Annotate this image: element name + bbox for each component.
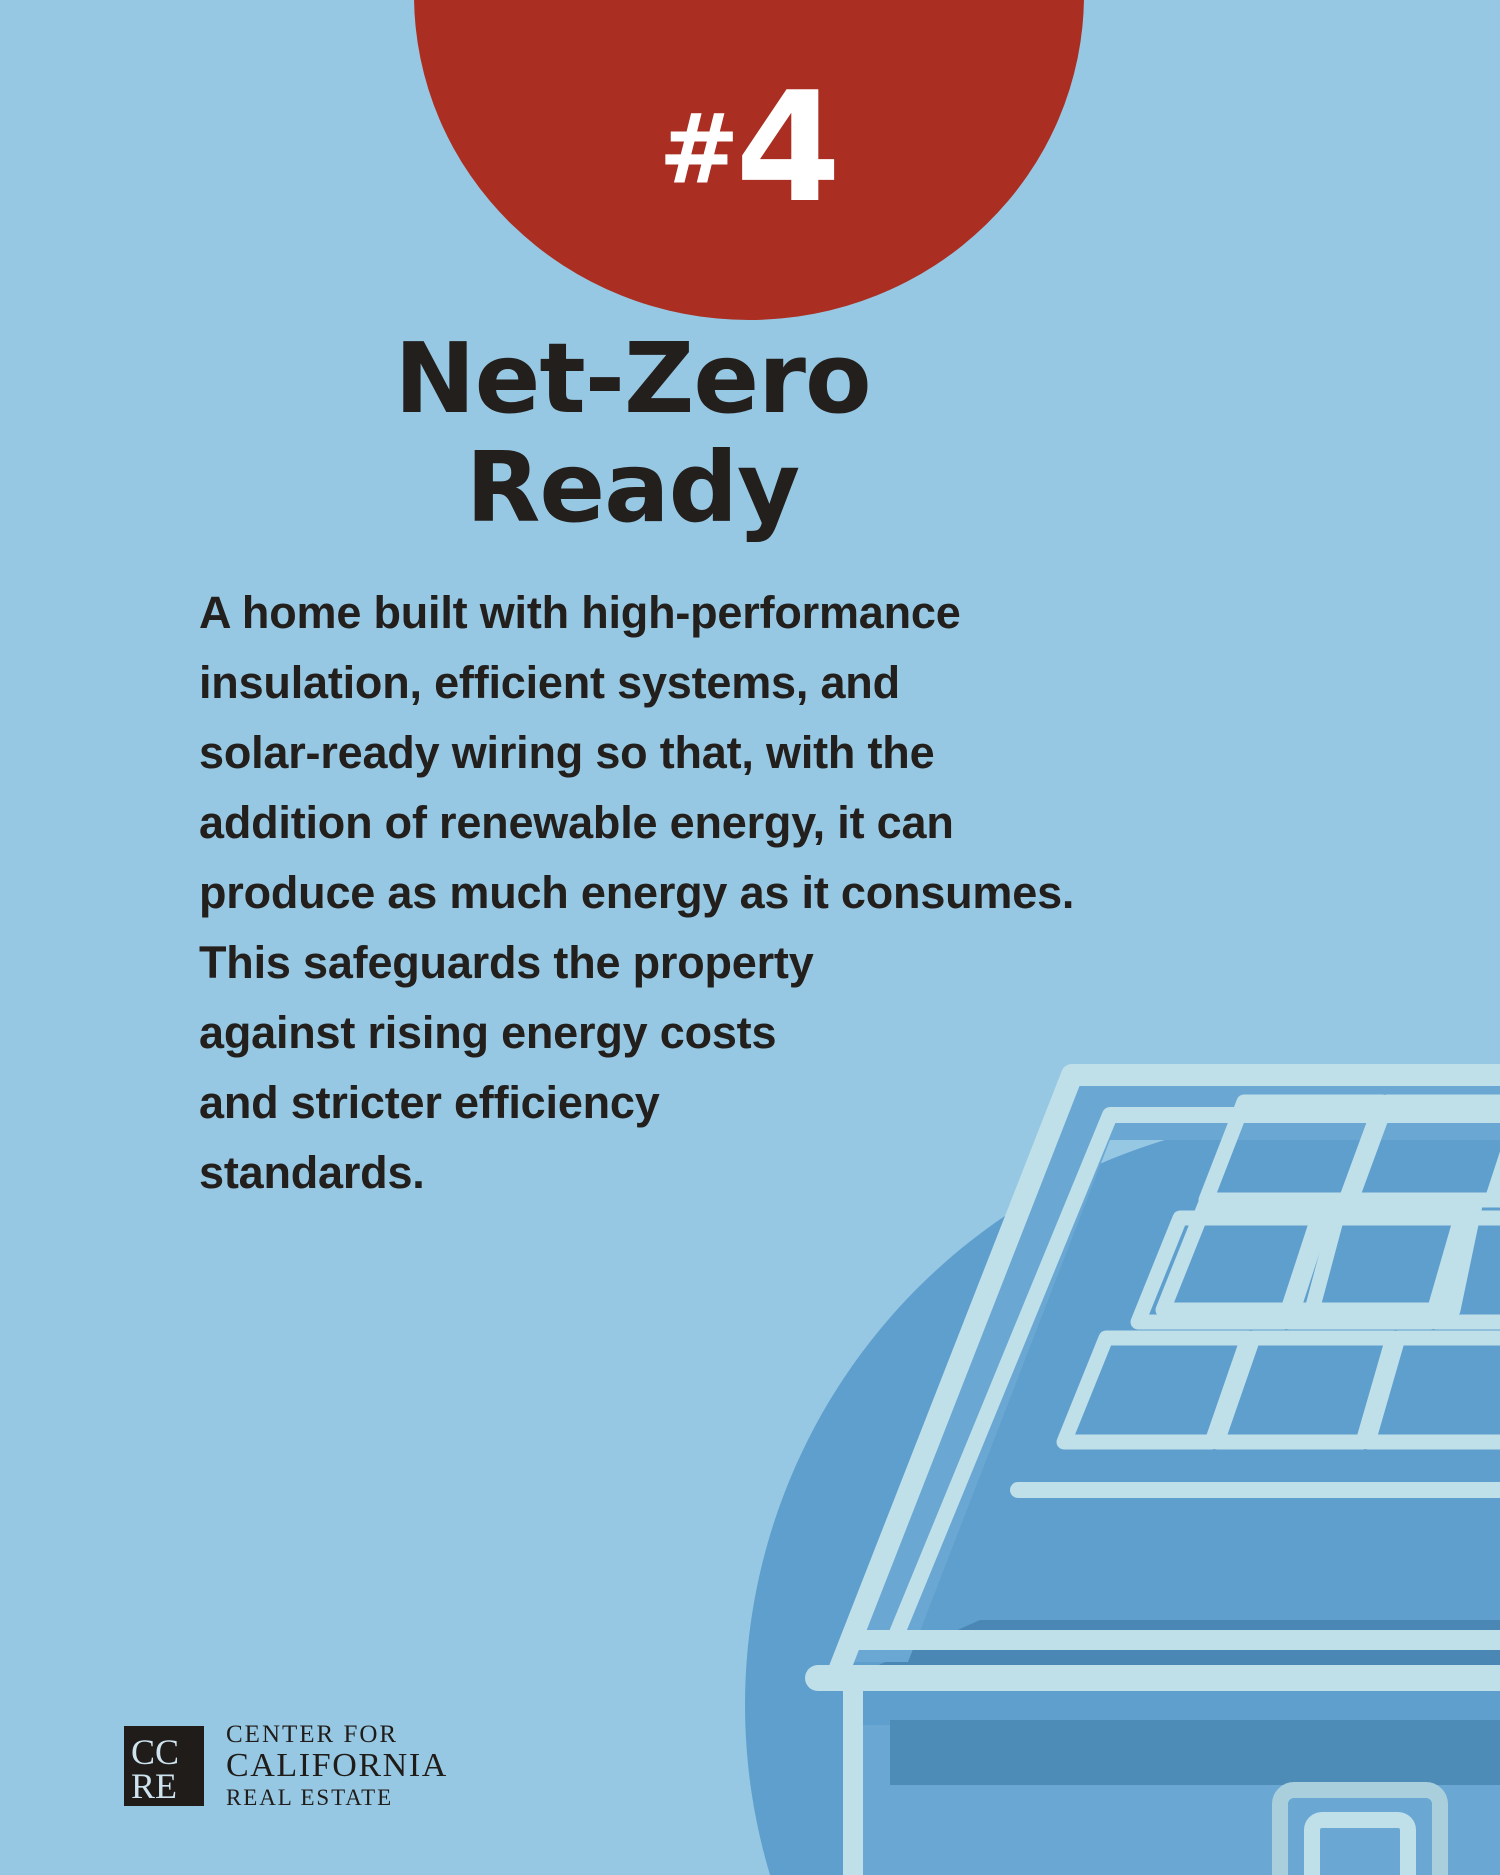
logo-line-real-estate: REAL ESTATE — [226, 1786, 448, 1809]
ccre-logo-wordmark: CENTER FOR CALIFORNIA REAL ESTATE — [226, 1722, 448, 1809]
body-line-1: A home built with high-performance — [199, 578, 1099, 648]
body-line-5: produce as much energy as it consumes. — [199, 858, 1099, 928]
page-title-line-1: Net-Zero — [0, 325, 1265, 434]
number-badge: #4 — [414, 0, 1084, 320]
ccre-logo-mark: CC RE — [124, 1726, 204, 1806]
badge-number-label: #4 — [659, 72, 839, 224]
svg-text:RE: RE — [131, 1766, 177, 1806]
badge-number-value: 4 — [735, 59, 839, 236]
body-line-9: standards. — [199, 1138, 1099, 1208]
body-line-3: solar-ready wiring so that, with the — [199, 718, 1099, 788]
body-line-6: This safeguards the property — [199, 928, 1099, 998]
poster-canvas: #4 Net-Zero Ready A home built with high… — [0, 0, 1500, 1875]
logo-line-california: CALIFORNIA — [226, 1749, 448, 1783]
logo-line-center-for: CENTER FOR — [226, 1722, 448, 1747]
page-title: Net-Zero Ready — [0, 325, 1265, 542]
body-line-8: and stricter efficiency — [199, 1068, 1099, 1138]
body-paragraph: A home built with high-performance insul… — [199, 578, 1099, 1208]
page-title-line-2: Ready — [0, 434, 1265, 543]
body-line-2: insulation, efficient systems, and — [199, 648, 1099, 718]
ccre-logo: CC RE CENTER FOR CALIFORNIA REAL ESTATE — [124, 1722, 448, 1809]
hash-symbol: # — [659, 94, 735, 206]
body-line-7: against rising energy costs — [199, 998, 1099, 1068]
body-line-4: addition of renewable energy, it can — [199, 788, 1099, 858]
